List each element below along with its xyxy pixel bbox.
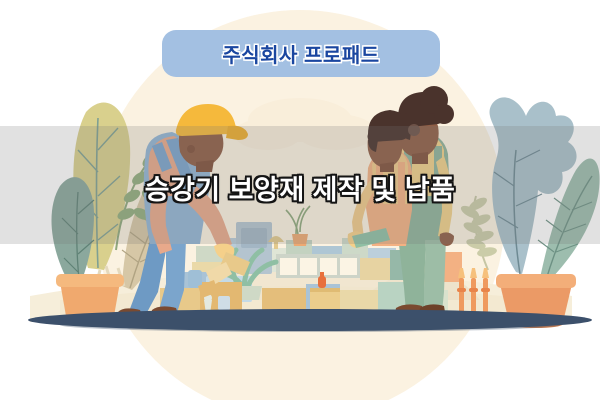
company-name-badge: 주식회사 프로패드	[162, 30, 440, 77]
headline-label: 승강기 보양재 제작 및 납품	[145, 175, 456, 205]
company-name-label: 주식회사 프로패드	[222, 39, 379, 68]
ground-shadow	[28, 309, 592, 332]
headline-container: 승강기 보양재 제작 및 납품	[0, 168, 600, 207]
bottle-tools-group	[457, 268, 490, 316]
banner-canvas: 주식회사 프로패드 승강기 보양재 제작 및 납품	[0, 0, 600, 400]
